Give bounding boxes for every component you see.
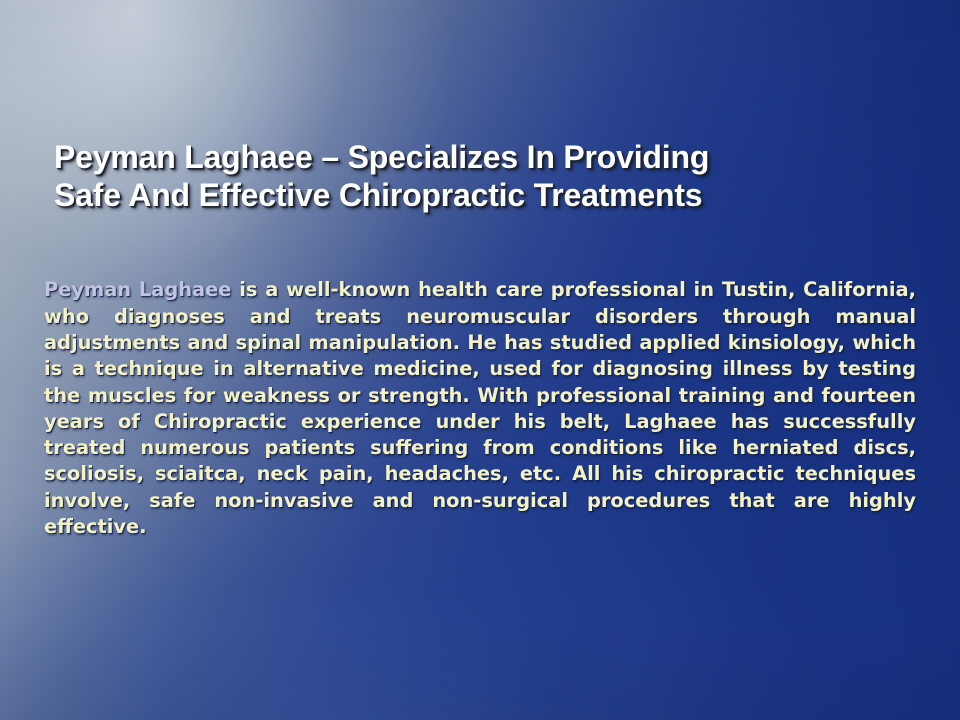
body-text: is a well-known health care professional… — [44, 278, 916, 538]
presentation-slide: Peyman Laghaee – Specializes In Providin… — [0, 0, 960, 720]
slide-body-paragraph: Peyman Laghaee is a well-known health ca… — [44, 277, 916, 540]
slide-content: Peyman Laghaee – Specializes In Providin… — [0, 0, 960, 720]
lead-name-text: Peyman Laghaee — [44, 278, 231, 301]
slide-title: Peyman Laghaee – Specializes In Providin… — [54, 138, 904, 214]
